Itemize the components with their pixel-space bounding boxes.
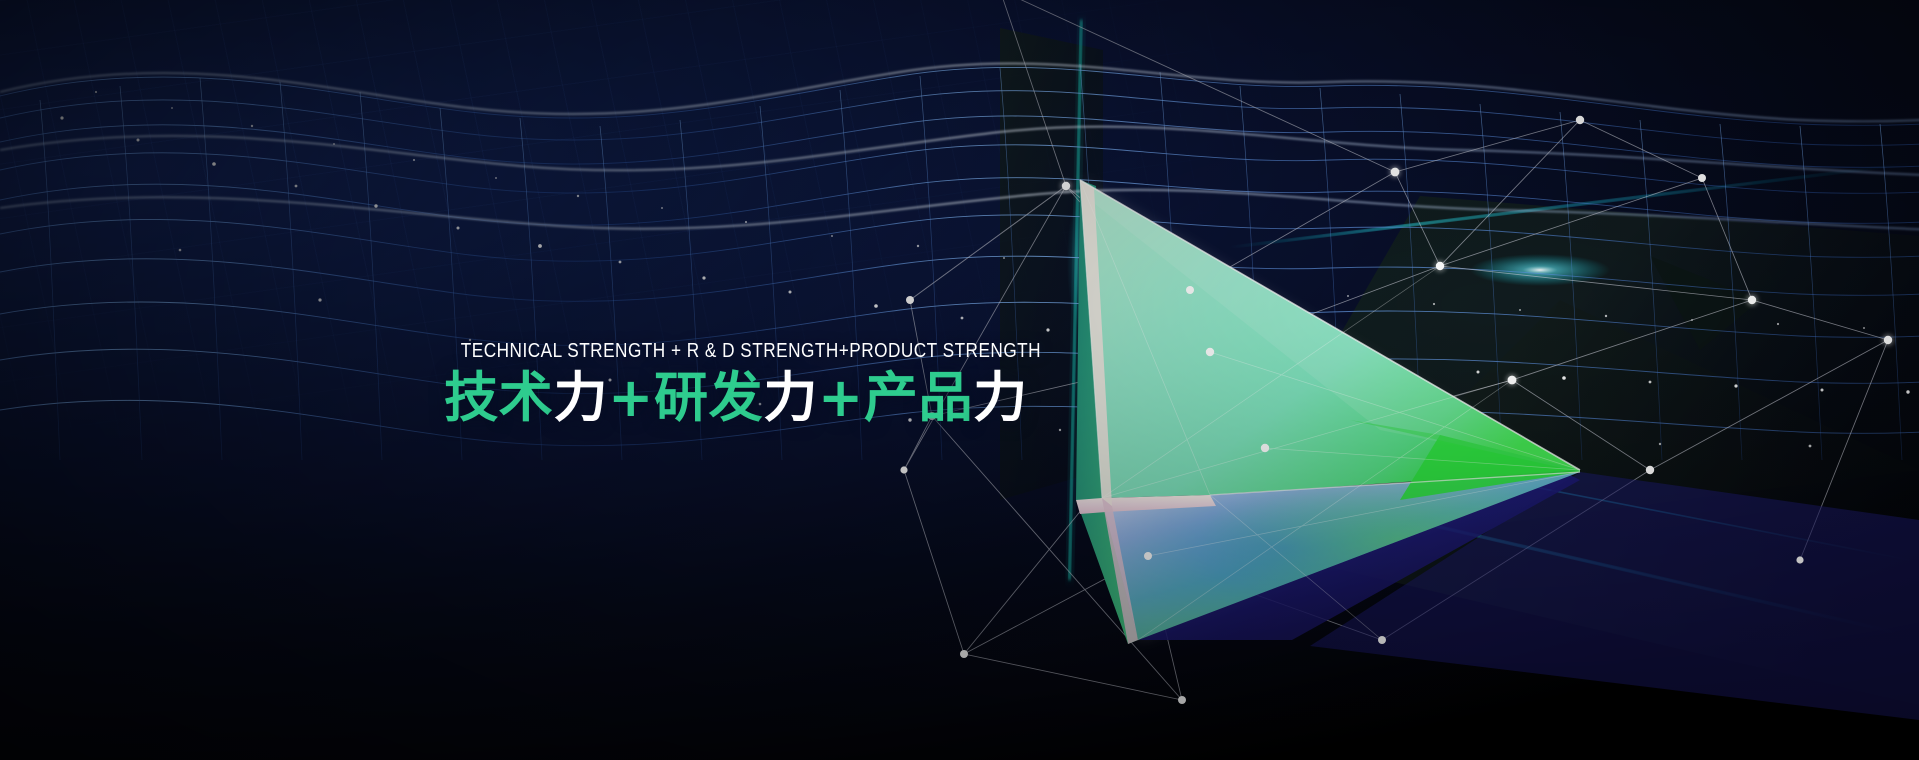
hero-banner: TECHNICAL STRENGTH + R & D STRENGTH+PROD… [0, 0, 1919, 760]
headline-part-3: + [608, 366, 654, 429]
hero-eyebrow: TECHNICAL STRENGTH + R & D STRENGTH+PROD… [461, 340, 1011, 362]
headline-part-7: 产品 [864, 366, 973, 429]
hero-copy: TECHNICAL STRENGTH + R & D STRENGTH+PROD… [416, 340, 1056, 426]
headline-part-6: + [818, 366, 864, 429]
headline-part-1: 技术 [444, 366, 553, 429]
headline-part-5: 力 [763, 366, 818, 429]
headline-part-2: 力 [553, 366, 608, 429]
hero-headline: 技术力+研发力+产品力 [416, 369, 1056, 426]
headline-part-4: 研发 [654, 366, 763, 429]
arrow-prism [1076, 180, 1919, 720]
headline-part-8: 力 [973, 366, 1028, 429]
